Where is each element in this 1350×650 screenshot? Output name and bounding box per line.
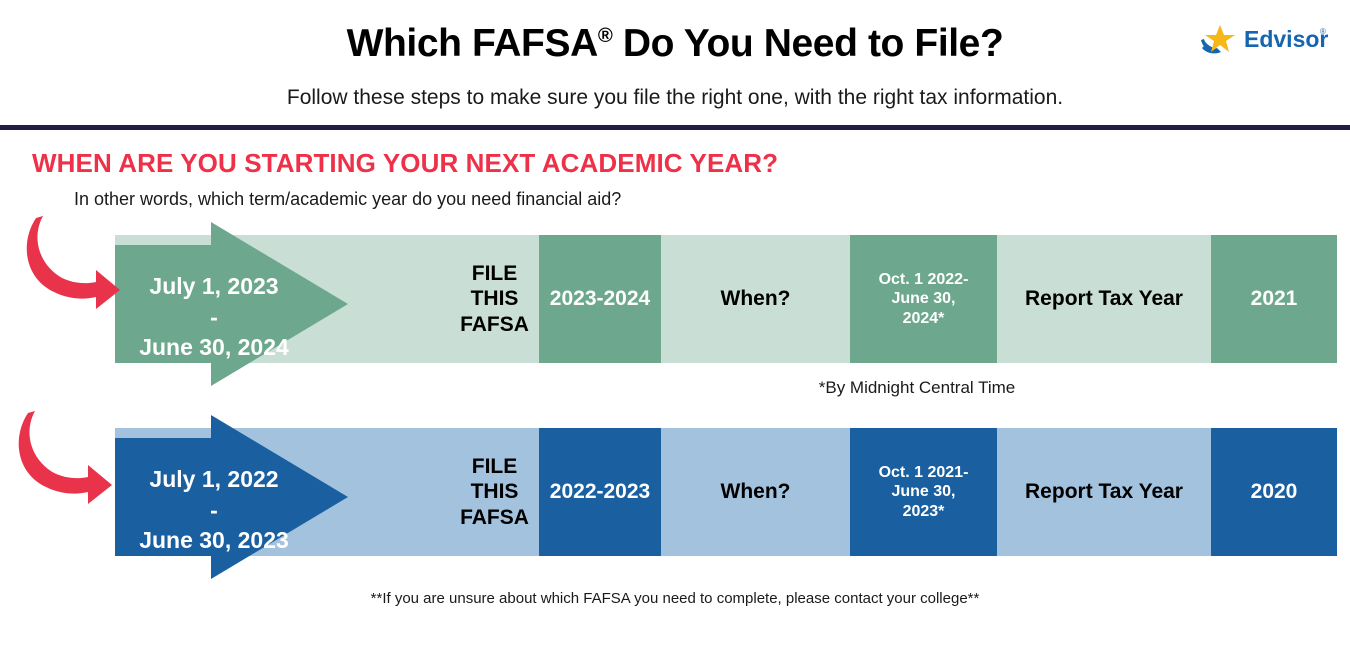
- page-title-tail: Do You Need to File?: [612, 22, 1003, 65]
- registered-trademark-icon: ®: [598, 25, 613, 47]
- edvisors-logo[interactable]: Edvisors ®: [1200, 22, 1328, 56]
- award-year-cell-blue: 2022-2023: [539, 428, 661, 556]
- filing-window-line1-blue: Oct. 1 2021-: [879, 463, 969, 483]
- fafsa-row-2022-2023: FILE THIS FAFSA 2022-2023 When? Oct. 1 2…: [115, 428, 1337, 556]
- header-divider: [0, 125, 1350, 130]
- section-heading: WHEN ARE YOU STARTING YOUR NEXT ACADEMIC…: [32, 148, 778, 179]
- filing-window-line3-blue: 2023*: [879, 502, 969, 522]
- filing-window-cell-green: Oct. 1 2022- June 30, 2024*: [850, 235, 997, 363]
- chevron-arrow-icon-green: [115, 222, 349, 386]
- section-subheading: In other words, which term/academic year…: [74, 189, 621, 210]
- filing-window-line2-blue: June 30,: [879, 482, 969, 502]
- page-title: Which FAFSA® Do You Need to File?: [0, 22, 1350, 66]
- curved-arrow-icon-row2: [8, 407, 116, 507]
- curved-arrow-icon-row1: [16, 212, 124, 312]
- when-label-green: When?: [661, 235, 850, 363]
- filing-window-line1-green: Oct. 1 2022-: [879, 270, 969, 290]
- chevron-arrow-icon-blue: [115, 415, 349, 579]
- page-subtitle: Follow these steps to make sure you file…: [0, 86, 1350, 110]
- filing-window-line3-green: 2024*: [879, 309, 969, 329]
- footnote-contact-college: **If you are unsure about which FAFSA yo…: [0, 590, 1350, 607]
- file-this-fafsa-label-blue: FILE THIS FAFSA: [450, 428, 539, 556]
- svg-text:Edvisors: Edvisors: [1244, 26, 1328, 52]
- tax-year-cell-green: 2021: [1211, 235, 1337, 363]
- infographic-canvas: Which FAFSA® Do You Need to File? Follow…: [0, 0, 1350, 650]
- report-tax-year-label-blue: Report Tax Year: [997, 428, 1211, 556]
- filing-window-cell-blue: Oct. 1 2021- June 30, 2023*: [850, 428, 997, 556]
- report-tax-year-label-green: Report Tax Year: [997, 235, 1211, 363]
- fafsa-row-2023-2024: FILE THIS FAFSA 2023-2024 When? Oct. 1 2…: [115, 235, 1337, 363]
- when-label-blue: When?: [661, 428, 850, 556]
- filing-window-line2-green: June 30,: [879, 289, 969, 309]
- page-title-main: Which FAFSA: [347, 22, 598, 65]
- tax-year-cell-blue: 2020: [1211, 428, 1337, 556]
- file-this-fafsa-label-green: FILE THIS FAFSA: [450, 235, 539, 363]
- svg-text:®: ®: [1320, 27, 1326, 36]
- award-year-cell-green: 2023-2024: [539, 235, 661, 363]
